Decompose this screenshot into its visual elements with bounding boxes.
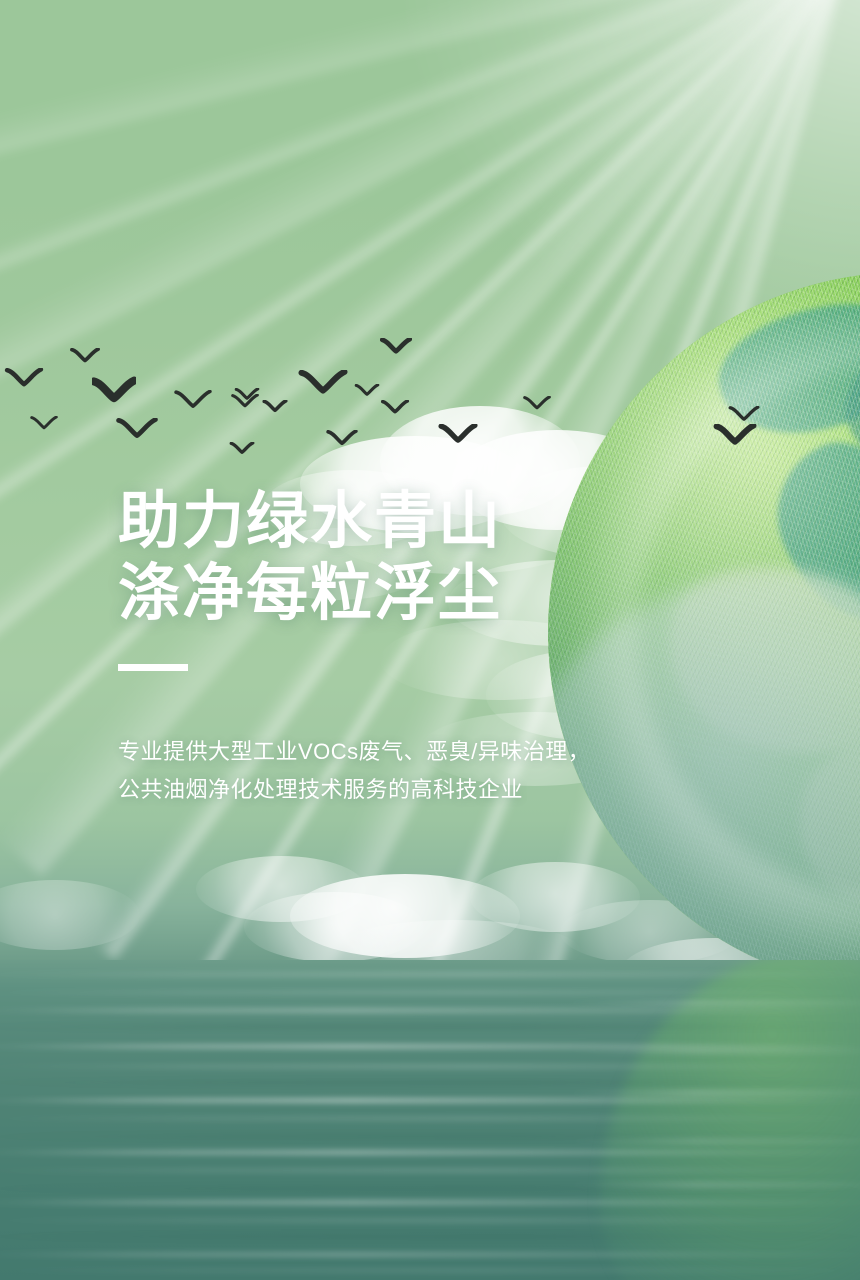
water-ripple bbox=[0, 972, 860, 977]
water-ripple bbox=[0, 1024, 860, 1029]
subtitle-block: 专业提供大型工业VOCs废气、恶臭/异味治理， 公共油烟净化处理技术服务的高科技… bbox=[118, 733, 678, 809]
water-ripple bbox=[0, 1150, 860, 1155]
water-ripple bbox=[0, 1252, 860, 1257]
headline-line-1: 助力绿水青山 bbox=[118, 486, 678, 558]
water-ripple bbox=[0, 1098, 860, 1103]
subtitle-line-1: 专业提供大型工业VOCs废气、恶臭/异味治理， bbox=[118, 733, 678, 771]
headline-divider bbox=[118, 664, 188, 671]
water-ripple bbox=[0, 1116, 860, 1121]
reflection-streak bbox=[560, 1000, 860, 1006]
water-ripple bbox=[0, 1200, 860, 1205]
water-ripple bbox=[0, 1268, 860, 1273]
water-ripple bbox=[0, 1186, 860, 1191]
water-ripple bbox=[0, 990, 860, 995]
water-ripple bbox=[0, 1008, 860, 1013]
water-ripple bbox=[0, 1134, 860, 1139]
hero-banner: 助力绿水青山 涤净每粒浮尘 专业提供大型工业VOCs废气、恶臭/异味治理， 公共… bbox=[0, 0, 860, 1280]
subtitle-line-2: 公共油烟净化处理技术服务的高科技企业 bbox=[118, 771, 678, 809]
water-surface bbox=[0, 960, 860, 1280]
water-ripple bbox=[0, 1218, 860, 1223]
water-ripple bbox=[0, 1044, 860, 1049]
hero-copy: 助力绿水青山 涤净每粒浮尘 专业提供大型工业VOCs废气、恶臭/异味治理， 公共… bbox=[118, 486, 678, 809]
water-ripple bbox=[0, 1064, 860, 1069]
headline-line-2: 涤净每粒浮尘 bbox=[118, 558, 678, 630]
reflection-streak bbox=[560, 1090, 860, 1096]
water-ripple bbox=[0, 1168, 860, 1173]
water-ripple bbox=[0, 1234, 860, 1239]
reflection-streak bbox=[560, 1048, 860, 1054]
water-ripple bbox=[0, 1080, 860, 1085]
